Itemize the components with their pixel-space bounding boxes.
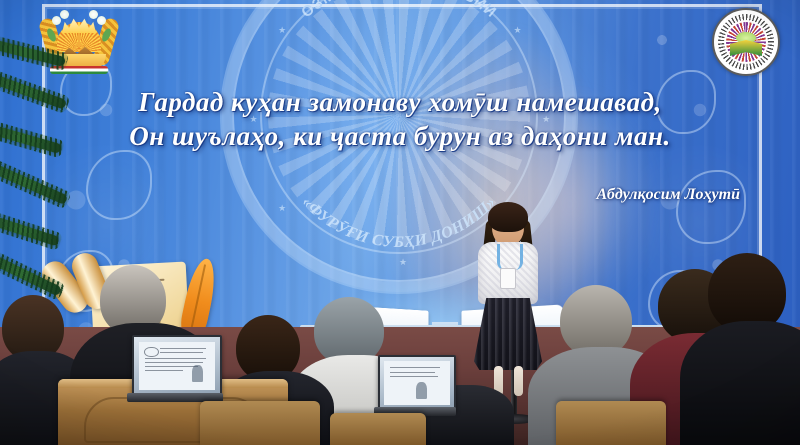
laptop-left[interactable] [132,335,218,393]
quote-line-2: Он шуълаҳо, ки ҷаста бурун аз даҳони ман… [0,116,800,158]
audience-member [692,253,800,445]
chair-back [330,413,426,445]
laptop-document [139,342,215,391]
chair-back [556,401,666,445]
chair-back [200,401,320,445]
laptop-document [384,361,449,405]
participant-badge [500,268,516,289]
quote-author: Абдулқосим Лоҳутӣ [596,186,740,204]
contest-emblem-icon [712,8,780,76]
quote-line-1: Гардад куҳан замонаву хомӯш намешавад, [0,88,800,116]
laptop-screen[interactable] [378,355,456,411]
palm-plant [0,38,72,328]
photo-scene: ★ ★ ★ ★ ★ ★ ★ ★ ОЗМУНИ ҶУМҲУРИЯВИИ «ФУРӮ… [0,0,800,445]
banner-quote: Гардад куҳан замонаву хомӯш намешавад, О… [0,88,800,158]
svg-text:ОЗМУНИ ҶУМҲУРИЯВИИ: ОЗМУНИ ҶУМҲУРИЯВИИ [298,0,500,21]
seal-arc-top-text: ОЗМУНИ ҶУМҲУРИЯВИИ [298,0,500,21]
laptop-screen[interactable] [132,335,222,397]
laptop-right[interactable] [378,355,452,407]
